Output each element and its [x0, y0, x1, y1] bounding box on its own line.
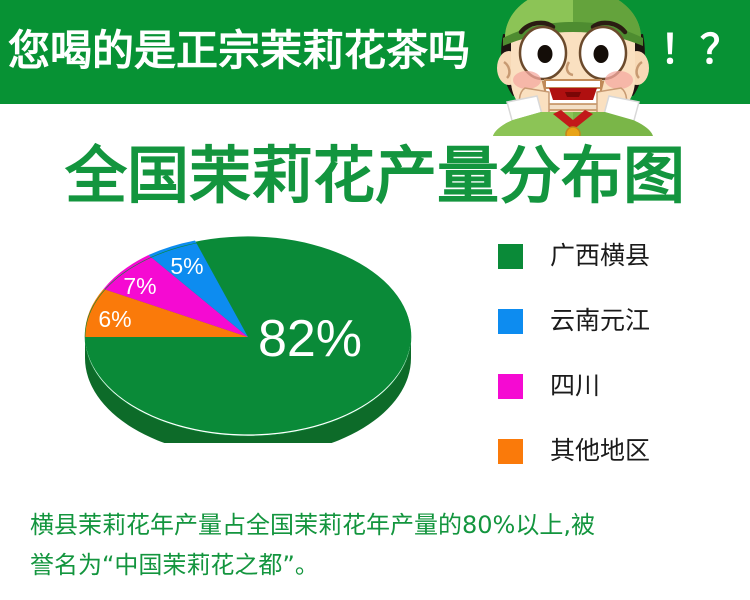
legend-item-yunnan[interactable]: 云南元江: [498, 303, 738, 339]
tea-boy-mascot-icon: [487, 0, 659, 136]
legend-label-yunnan: 云南元江: [550, 306, 650, 336]
legend-label-other: 其他地区: [550, 436, 650, 466]
legend-swatch-green: [498, 244, 523, 269]
header-question-text: 您喝的是正宗茉莉花茶吗: [8, 22, 478, 80]
legend-item-other[interactable]: 其他地区: [498, 433, 738, 469]
header-punctuation-marks: ！？: [660, 22, 740, 80]
caption-block: 横县茉莉花年产量占全国茉莉花年产量的80%以上,被 誉名为“中国茉莉花之都”。: [30, 505, 730, 585]
pie-chart: 82% 5% 7% 6%: [60, 228, 450, 443]
legend-swatch-orange: [498, 439, 523, 464]
chart-legend: 广西横县 云南元江 四川 其他地区: [498, 238, 738, 498]
infographic-root: 您喝的是正宗茉莉花茶吗 ！？: [0, 0, 750, 600]
legend-swatch-magenta: [498, 374, 523, 399]
page-title: 全国茉莉花产量分布图: [0, 137, 750, 215]
caption-line-1: 横县茉莉花年产量占全国茉莉花年产量的80%以上,被: [30, 505, 730, 545]
pie-label-5: 5%: [170, 253, 203, 279]
legend-label-sichuan: 四川: [550, 371, 600, 401]
pie-label-82: 82%: [258, 310, 362, 368]
legend-item-guangxi[interactable]: 广西横县: [498, 238, 738, 274]
legend-item-sichuan[interactable]: 四川: [498, 368, 738, 404]
legend-label-guangxi: 广西横县: [550, 241, 650, 271]
legend-swatch-blue: [498, 309, 523, 334]
pie-label-6: 6%: [98, 306, 131, 332]
caption-line-2: 誉名为“中国茉莉花之都”。: [30, 545, 730, 585]
pie-label-7: 7%: [123, 273, 156, 299]
